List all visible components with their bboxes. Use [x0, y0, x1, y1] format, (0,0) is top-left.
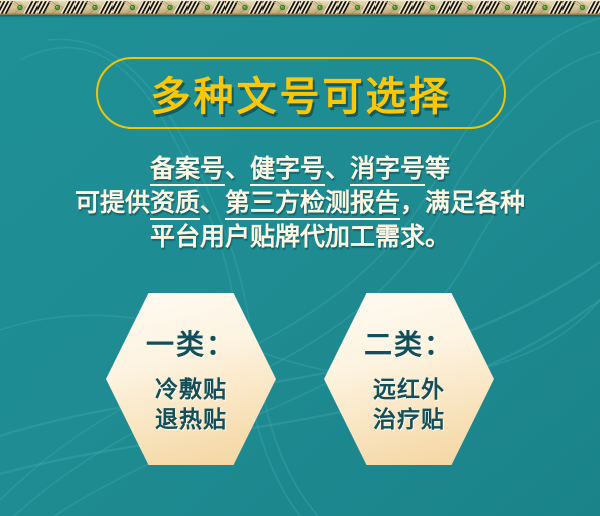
- plain-text: 可提供: [75, 188, 150, 217]
- ornamental-border-band: [0, 0, 600, 15]
- category-heading: 二类：: [364, 323, 454, 363]
- highlighted-term: 第三方检测报告: [225, 188, 400, 220]
- hexagon-content: 二类： 远红外 治疗贴: [324, 293, 494, 465]
- plain-text: ，满足各种: [400, 188, 525, 217]
- highlighted-term: 健字号: [250, 154, 325, 186]
- category-item: 冷敷贴: [155, 375, 227, 405]
- description-line: 备案号、健字号、消字号等: [0, 152, 600, 186]
- hexagon-content: 一类： 冷敷贴 退热贴: [106, 293, 276, 465]
- promo-poster: 多种文号可选择 备案号、健字号、消字号等 可提供资质、第三方检测报告，满足各种 …: [0, 0, 600, 516]
- highlighted-term: 备案号: [150, 154, 225, 186]
- plain-text: 、: [200, 188, 225, 217]
- plain-text: 等: [425, 154, 450, 183]
- category-heading: 一类：: [146, 323, 236, 363]
- description-line: 平台用户贴牌代加工需求。: [0, 220, 600, 254]
- border-drop-shadow: [0, 15, 600, 18]
- category-item: 远红外: [373, 375, 445, 405]
- highlighted-term: 资质: [150, 188, 200, 220]
- plain-text: 、: [325, 154, 350, 183]
- category-hexagon-2[interactable]: 二类： 远红外 治疗贴: [324, 293, 494, 465]
- plain-text: 平台用户贴牌代加工需求。: [150, 222, 450, 251]
- highlighted-term: 消字号: [350, 154, 425, 186]
- plain-text: 、: [225, 154, 250, 183]
- description-line: 可提供资质、第三方检测报告，满足各种: [0, 186, 600, 220]
- category-item: 退热贴: [155, 405, 227, 435]
- category-item: 治疗贴: [373, 405, 445, 435]
- description-block: 备案号、健字号、消字号等 可提供资质、第三方检测报告，满足各种 平台用户贴牌代加…: [0, 152, 600, 254]
- page-title: 多种文号可选择: [96, 57, 506, 129]
- category-hexagon-1[interactable]: 一类： 冷敷贴 退热贴: [106, 293, 276, 465]
